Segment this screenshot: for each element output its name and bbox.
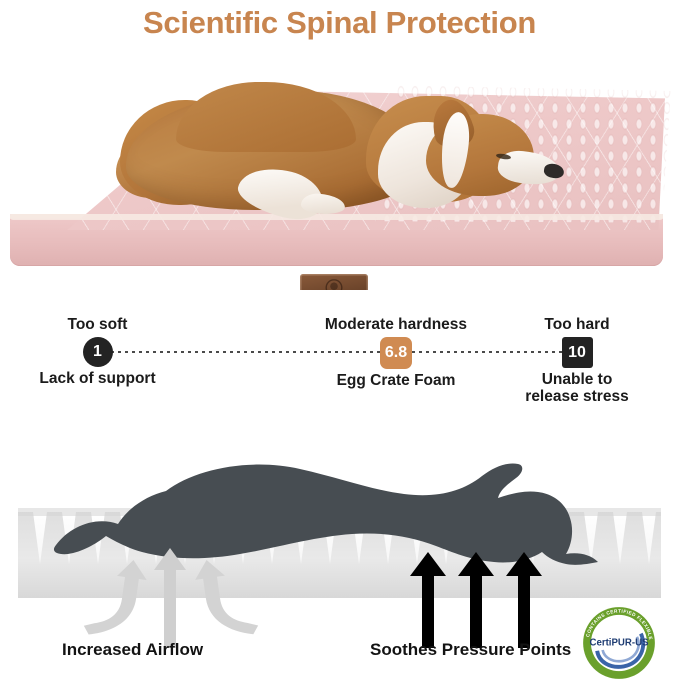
pressure-arrow-3	[506, 552, 542, 648]
page-title: Scientific Spinal Protection	[0, 0, 679, 46]
pressure-arrows	[408, 552, 558, 652]
scale-bottom-label-unable-to-release-stress: Unable to release stress	[512, 372, 642, 405]
scale-badge-1: 1	[83, 337, 113, 367]
pressure-arrow-2	[458, 552, 494, 648]
scale-node-too-hard: Too hard 10 Unable to release stress	[512, 316, 642, 405]
scale-node-too-soft: Too soft 1 Lack of support	[30, 316, 165, 388]
brand-leather-tag	[300, 274, 368, 290]
airflow-arrow-right-curved	[193, 554, 260, 641]
airflow-arrow-left-curved	[83, 554, 150, 641]
dog-back	[176, 82, 356, 152]
dog-bed-image	[8, 78, 671, 286]
certipur-us-badge: CONTAINS CERTIFIED FLEXIBLE POLYURETHANE…	[578, 604, 660, 682]
brand-logo-icon	[326, 279, 343, 290]
scale-top-label-too-hard: Too hard	[512, 316, 642, 334]
scale-top-label-too-soft: Too soft	[30, 316, 165, 334]
scale-badge-10: 10	[562, 337, 593, 368]
scale-node-moderate: Moderate hardness 6.8 Egg Crate Foam	[310, 316, 482, 390]
label-soothes-pressure-points: Soothes Pressure Points	[370, 640, 571, 660]
pressure-arrow-1	[410, 552, 446, 648]
label-increased-airflow: Increased Airflow	[62, 640, 203, 660]
badge-brand-text: CertiPUR-US	[589, 637, 649, 648]
product-photo	[0, 48, 679, 290]
scale-bottom-label-egg-crate-foam: Egg Crate Foam	[310, 373, 482, 390]
scale-bottom-label-lack-of-support: Lack of support	[30, 371, 165, 388]
hardness-scale: Too soft 1 Lack of support Moderate hard…	[0, 300, 679, 410]
scale-top-label-moderate-hardness: Moderate hardness	[310, 316, 482, 334]
airflow-arrows	[70, 540, 270, 650]
airflow-arrow-center	[154, 548, 186, 648]
corgi-dog-photo	[126, 78, 556, 238]
certipur-badge-svg: CONTAINS CERTIFIED FLEXIBLE POLYURETHANE…	[578, 604, 660, 682]
scale-badge-6-8: 6.8	[380, 337, 412, 369]
